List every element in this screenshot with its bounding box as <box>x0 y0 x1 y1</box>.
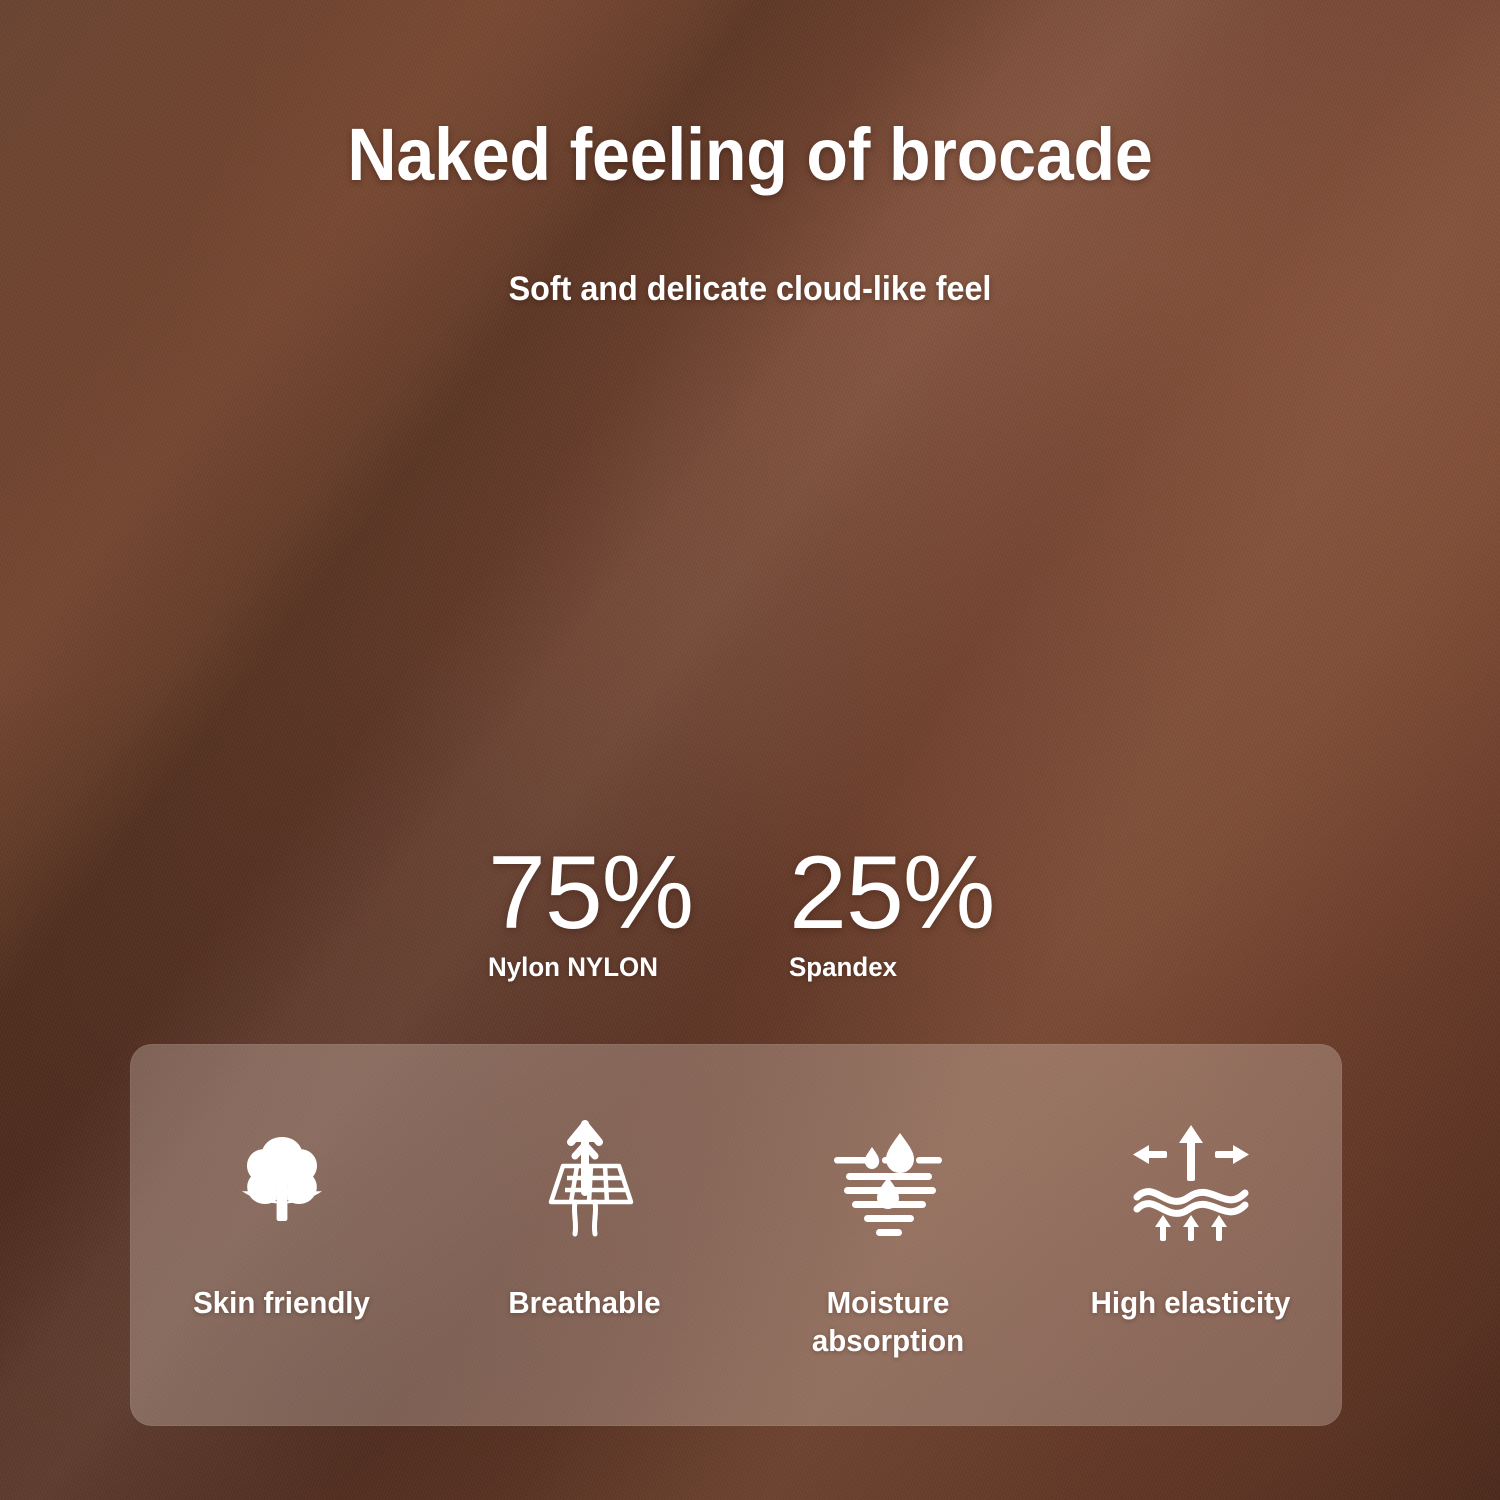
composition-value: 25% <box>789 846 994 942</box>
composition-label: Nylon NYLON <box>488 954 685 981</box>
feature-label: Skin friendly <box>138 1284 426 1322</box>
breathable-mesh-icon <box>521 1118 649 1246</box>
composition-item-spandex: 25% Spandex <box>789 846 994 981</box>
composition-value: 75% <box>488 846 693 942</box>
feature-label: High elasticity <box>1047 1284 1335 1322</box>
feature-skin-friendly: Skin friendly <box>130 1044 433 1426</box>
feature-label: Breathable <box>441 1284 729 1322</box>
feature-moisture-absorption: Moisture absorption <box>736 1044 1039 1426</box>
feature-high-elasticity: High elasticity <box>1039 1044 1342 1426</box>
page-subtitle: Soft and delicate cloud-like feel <box>38 272 1463 306</box>
high-elasticity-icon <box>1127 1118 1255 1246</box>
feature-breathable: Breathable <box>433 1044 736 1426</box>
features-row: Skin friendly <box>130 1044 1342 1426</box>
product-feature-banner: Naked feeling of brocade Soft and delica… <box>0 0 1500 1500</box>
composition-label: Spandex <box>789 954 986 981</box>
fabric-composition: 75% Nylon NYLON 25% Spandex <box>488 846 994 981</box>
moisture-absorption-icon <box>824 1118 952 1246</box>
feature-label: Moisture absorption <box>788 1284 988 1360</box>
features-panel: Skin friendly <box>130 1044 1342 1426</box>
page-title: Naked feeling of brocade <box>60 118 1440 192</box>
composition-item-nylon: 75% Nylon NYLON <box>488 846 693 981</box>
cotton-boll-icon <box>218 1118 346 1246</box>
